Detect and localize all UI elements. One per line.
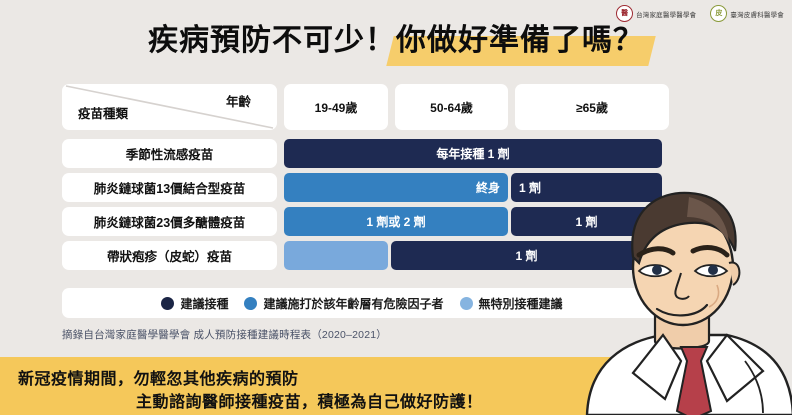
logo-label: 臺灣皮膚科醫學會 [730,9,784,19]
table-row: 帶狀疱疹（皮蛇）疫苗 1 劑 [62,241,662,270]
vaccine-name-label: 季節性流感疫苗 [62,139,277,168]
page-title: 疾病預防不可少！你做好準備了嗎？ [148,24,644,57]
legend-dot-icon [460,297,473,310]
legend-dot-icon [161,297,174,310]
vaccine-name-label: 帶狀疱疹（皮蛇）疫苗 [62,241,277,270]
legend-item-recommended: 建議接種 [161,295,228,312]
legend-label: 建議施打於該年齡層有危險因子者 [263,295,443,312]
logo-label: 台灣家庭醫學醫學會 [636,9,696,19]
legend-item-risk-factor: 建議施打於該年齡層有危險因子者 [244,295,443,312]
logo-dermatological-association: 皮 臺灣皮膚科醫學會 [710,5,784,22]
legend-label: 建議接種 [180,295,228,312]
age-column-19-49: 19-49歲 [284,84,388,130]
legend-label: 無特別接種建議 [479,295,563,312]
legend-dot-icon [244,297,257,310]
banner-line-1: 新冠疫情期間，勿輕忽其他疾病的預防 [18,365,299,389]
society-seal-icon: 醫 [616,5,633,22]
vaccine-name-label: 肺炎鏈球菌13價結合型疫苗 [62,173,277,202]
logo-family-medicine-society: 醫 台灣家庭醫學醫學會 [616,5,696,22]
vaccine-name-label: 肺炎鏈球菌23價多醣體疫苗 [62,207,277,236]
title-highlighted-text: 你做好準備了嗎？ [396,24,644,57]
recommendation-bar: 終身 [284,173,508,202]
age-column-50-64: 50-64歲 [395,84,508,130]
doctor-illustration [577,185,792,415]
headline-area: 疾病預防不可少！你做好準備了嗎？ [0,24,792,57]
age-header-label: 年齡 [226,91,251,110]
table-header-row: 年齡 疫苗種類 19-49歲 50-64歲 ≥65歲 [62,84,662,130]
recommendation-bar [284,241,388,270]
vaccine-schedule-table: 年齡 疫苗種類 19-49歲 50-64歲 ≥65歲 季節性流感疫苗 每年接種 … [62,84,662,275]
title-highlight-label: 你做好準備了嗎？ [396,24,644,57]
table-row: 肺炎鏈球菌23價多醣體疫苗 1 劑或 2 劑 1 劑 [62,207,662,236]
source-citation: 摘錄自台灣家庭醫學醫學會 成人預防接種建議時程表（2020–2021） [62,327,387,342]
table-row: 肺炎鏈球菌13價結合型疫苗 終身 1 劑 [62,173,662,202]
recommendation-bar: 1 劑或 2 劑 [284,207,508,236]
legend-item-no-recommendation: 無特別接種建議 [460,295,563,312]
legend: 建議接種 建議施打於該年齡層有危險因子者 無特別接種建議 [62,288,662,318]
vaccine-kind-header-label: 疫苗種類 [78,103,128,122]
recommendation-bars: 每年接種 1 劑 [284,139,662,168]
banner-line-2: 主動諮詢醫師接種疫苗，積極為自己做好防護！ [136,388,483,412]
table-row: 季節性流感疫苗 每年接種 1 劑 [62,139,662,168]
title-plain-text: 疾病預防不可少！ [148,24,396,57]
society-logos: 醫 台灣家庭醫學醫學會 皮 臺灣皮膚科醫學會 [616,5,784,22]
table-corner-cell: 年齡 疫苗種類 [62,84,277,130]
recommendation-bar: 每年接種 1 劑 [284,139,662,168]
age-column-65plus: ≥65歲 [515,84,669,130]
society-seal-icon: 皮 [710,5,727,22]
